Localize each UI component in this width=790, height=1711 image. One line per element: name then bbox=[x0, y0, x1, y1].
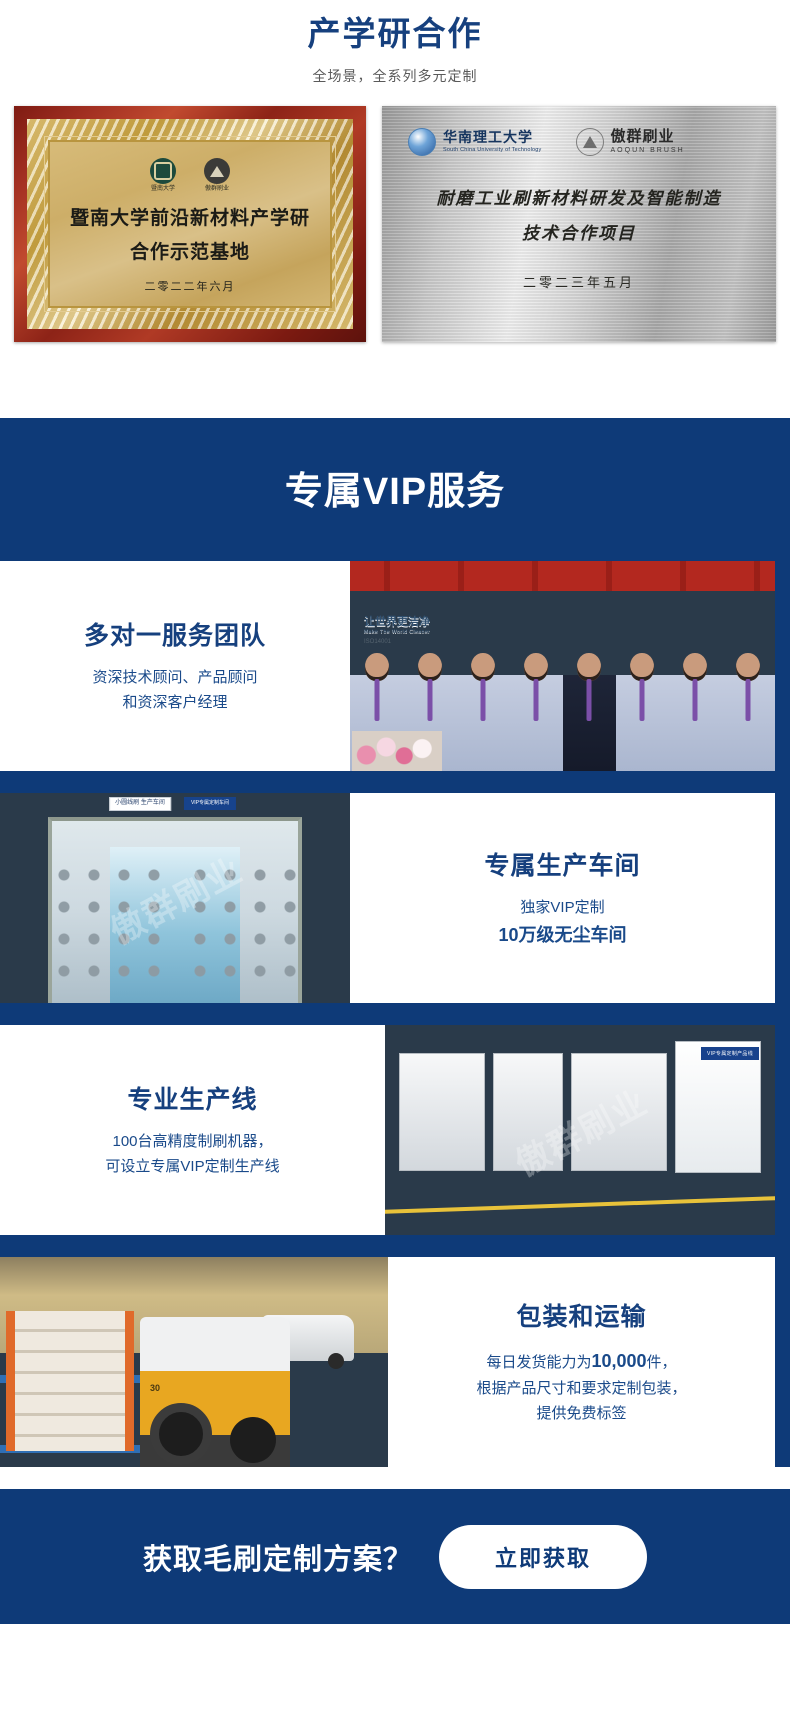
team-member bbox=[456, 649, 509, 771]
vip-card-title: 多对一服务团队 bbox=[84, 616, 266, 652]
aoqun-logo-en: AOQUN BRUSH bbox=[611, 147, 685, 154]
vip-card-description: 每日发货能力为10,000件， 根据产品尺寸和要求定制包装， 提供免费标签 bbox=[476, 1347, 686, 1426]
booth-slogan: 让世界更洁净 Make The World Cleaner bbox=[364, 613, 430, 635]
vip-section-title: 专属VIP服务 bbox=[0, 418, 790, 561]
vip-card-desc-line1: 独家VIP定制 bbox=[498, 896, 626, 921]
vip-card-service-team: 多对一服务团队 资深技术顾问、产品顾问 和资深客户经理 让世界更洁净 Make … bbox=[0, 561, 775, 771]
vip-card-description: 100台高精度制刷机器， 可设立专属VIP定制生产线 bbox=[105, 1130, 279, 1180]
desc-suffix: 件， bbox=[647, 1354, 677, 1371]
jinan-university-seal-icon bbox=[150, 158, 176, 184]
vip-card-title: 专属生产车间 bbox=[484, 846, 640, 882]
get-quote-button[interactable]: 立即获取 bbox=[439, 1525, 647, 1589]
vip-card-description: 独家VIP定制 10万级无尘车间 bbox=[498, 896, 626, 950]
vip-card-desc-line2: 10万级无尘车间 bbox=[498, 921, 626, 951]
production-line-machines-photo: VIP专属定制产品线 傲群刷业 bbox=[385, 1025, 775, 1235]
brush-machine bbox=[675, 1041, 761, 1173]
vip-card-title: 包装和运输 bbox=[516, 1297, 646, 1333]
vip-card-title: 专业生产线 bbox=[127, 1080, 257, 1116]
booth-slogan-en: Make The World Cleaner bbox=[364, 629, 430, 635]
cta-bar: 获取毛刷定制方案？ 立即获取 bbox=[0, 1489, 790, 1624]
aoqun-brush-logo-label: 傲群刷业 bbox=[205, 186, 229, 193]
flower-bouquet bbox=[352, 731, 442, 771]
silver-plaque-date: 二零二三年五月 bbox=[408, 272, 750, 291]
team-member bbox=[563, 649, 616, 771]
daily-shipping-count: 10,000 bbox=[591, 1351, 646, 1371]
plaque-logos: 暨南大学 傲群刷业 bbox=[150, 158, 230, 194]
cta-question: 获取毛刷定制方案？ bbox=[143, 1536, 413, 1578]
vip-card-text: 专业生产线 100台高精度制刷机器， 可设立专属VIP定制生产线 bbox=[0, 1025, 385, 1235]
cooperation-section: 产学研合作 全场景，全系列多元定制 暨南大学 傲群刷业 bbox=[0, 0, 790, 418]
silver-plaque-logos: 华南理工大学 South China University of Technol… bbox=[408, 128, 750, 156]
page-subtitle: 全场景，全系列多元定制 bbox=[0, 66, 790, 86]
aoqun-brush-logo: 傲群刷业 bbox=[204, 158, 230, 193]
vip-card-desc-line1: 每日发货能力为10,000件， bbox=[476, 1347, 686, 1377]
team-member bbox=[616, 649, 669, 771]
forklift-loading-photo: 30 bbox=[0, 1257, 388, 1467]
vip-card-production-line: 专业生产线 100台高精度制刷机器， 可设立专属VIP定制生产线 VIP专属定制… bbox=[0, 1025, 775, 1235]
vip-card-description: 资深技术顾问、产品顾问 和资深客户经理 bbox=[92, 666, 257, 716]
booth-slogan-cn: 让世界更洁净 bbox=[364, 616, 430, 628]
vip-card-desc-line2: 可设立专属VIP定制生产线 bbox=[105, 1155, 279, 1180]
plaque-inner: 暨南大学 傲群刷业 暨南大学前沿新材料产学研 合作示范基地 二零二二年六月 bbox=[48, 140, 332, 308]
scut-logo-cn: 华南理工大学 bbox=[443, 130, 542, 144]
brush-machine bbox=[493, 1053, 563, 1171]
aoqun-brush-mark-icon bbox=[204, 158, 230, 184]
vip-card-desc-line1: 资深技术顾问、产品顾问 bbox=[92, 666, 257, 691]
gold-plaque-line2: 合作示范基地 bbox=[130, 237, 250, 264]
vip-card-text: 多对一服务团队 资深技术顾问、产品顾问 和资深客户经理 bbox=[0, 561, 350, 771]
scut-seal-icon bbox=[408, 128, 436, 156]
silver-plaque: 华南理工大学 South China University of Technol… bbox=[382, 106, 776, 342]
air-shower-nozzles-left bbox=[52, 863, 162, 983]
stacked-cartons bbox=[6, 1311, 134, 1451]
forklift-capacity-number: 30 bbox=[150, 1383, 160, 1393]
booth-ceiling-beam bbox=[350, 561, 775, 591]
scut-logo-en: South China University of Technology bbox=[443, 147, 542, 153]
team-member bbox=[722, 649, 775, 771]
vip-card-desc-line2: 根据产品尺寸和要求定制包装， bbox=[476, 1377, 686, 1402]
page-title: 产学研合作 bbox=[0, 0, 790, 54]
vip-product-line-sign: VIP专属定制产品线 bbox=[701, 1047, 759, 1060]
team-member bbox=[509, 649, 562, 771]
scut-logo: 华南理工大学 South China University of Technol… bbox=[408, 128, 542, 156]
air-shower-nozzles-right bbox=[188, 863, 298, 983]
brush-machine bbox=[571, 1053, 667, 1171]
jinan-university-logo: 暨南大学 bbox=[150, 158, 176, 193]
jinan-university-logo-label: 暨南大学 bbox=[151, 186, 175, 193]
desc-prefix: 每日发货能力为 bbox=[486, 1354, 591, 1371]
vip-card-text: 专属生产车间 独家VIP定制 10万级无尘车间 bbox=[350, 793, 775, 1003]
floor-marking-line bbox=[385, 1196, 775, 1214]
vip-card-desc-line1: 100台高精度制刷机器， bbox=[105, 1130, 279, 1155]
vip-card-desc-line2: 和资深客户经理 bbox=[92, 691, 257, 716]
page-root: 产学研合作 全场景，全系列多元定制 暨南大学 傲群刷业 bbox=[0, 0, 790, 1711]
exhibition-team-photo: 让世界更洁净 Make The World Cleaner ISO14001 bbox=[350, 561, 775, 771]
vip-card-packing-shipping: 30 包装和运输 每日发货能力为10,000件， 根据产品尺寸和要求定制包装， … bbox=[0, 1257, 775, 1467]
vip-card-desc-line3: 提供免费标签 bbox=[476, 1402, 686, 1427]
vip-service-section: 专属VIP服务 多对一服务团队 资深技术顾问、产品顾问 和资深客户经理 让世界更… bbox=[0, 418, 790, 1467]
workshop-sign: 小圆线刷 生产车间 bbox=[109, 797, 171, 811]
vip-card-dedicated-workshop: 小圆线刷 生产车间 VIP专属定制车间 傲群刷业 专属生产车间 独家VIP定制 … bbox=[0, 793, 775, 1003]
cleanroom-air-shower-photo: 小圆线刷 生产车间 VIP专属定制车间 傲群刷业 bbox=[0, 793, 350, 1003]
silver-plaque-line1: 耐磨工业刷新材料研发及智能制造 bbox=[408, 184, 750, 209]
forklift-truck bbox=[140, 1317, 290, 1467]
aoqun-logo-cn: 傲群刷业 bbox=[611, 129, 685, 144]
booth-certification-label: ISO14001 bbox=[364, 639, 391, 645]
plaque-gallery: 暨南大学 傲群刷业 暨南大学前沿新材料产学研 合作示范基地 二零二二年六月 bbox=[0, 106, 790, 342]
silver-plaque-line2: 技术合作项目 bbox=[408, 219, 750, 244]
gold-plaque: 暨南大学 傲群刷业 暨南大学前沿新材料产学研 合作示范基地 二零二二年六月 bbox=[14, 106, 366, 342]
brush-machine bbox=[399, 1053, 485, 1171]
vip-workshop-sign: VIP专属定制车间 bbox=[184, 797, 236, 810]
team-member bbox=[669, 649, 722, 771]
vip-card-text: 包装和运输 每日发货能力为10,000件， 根据产品尺寸和要求定制包装， 提供免… bbox=[388, 1257, 775, 1467]
aoqun-brush-mark-icon bbox=[576, 128, 604, 156]
aoqun-brush-logo: 傲群刷业 AOQUN BRUSH bbox=[576, 128, 685, 156]
silver-plaque-inner: 华南理工大学 South China University of Technol… bbox=[382, 106, 776, 291]
gold-plaque-line1: 暨南大学前沿新材料产学研 bbox=[70, 203, 310, 230]
gold-plaque-date: 二零二二年六月 bbox=[145, 278, 236, 294]
